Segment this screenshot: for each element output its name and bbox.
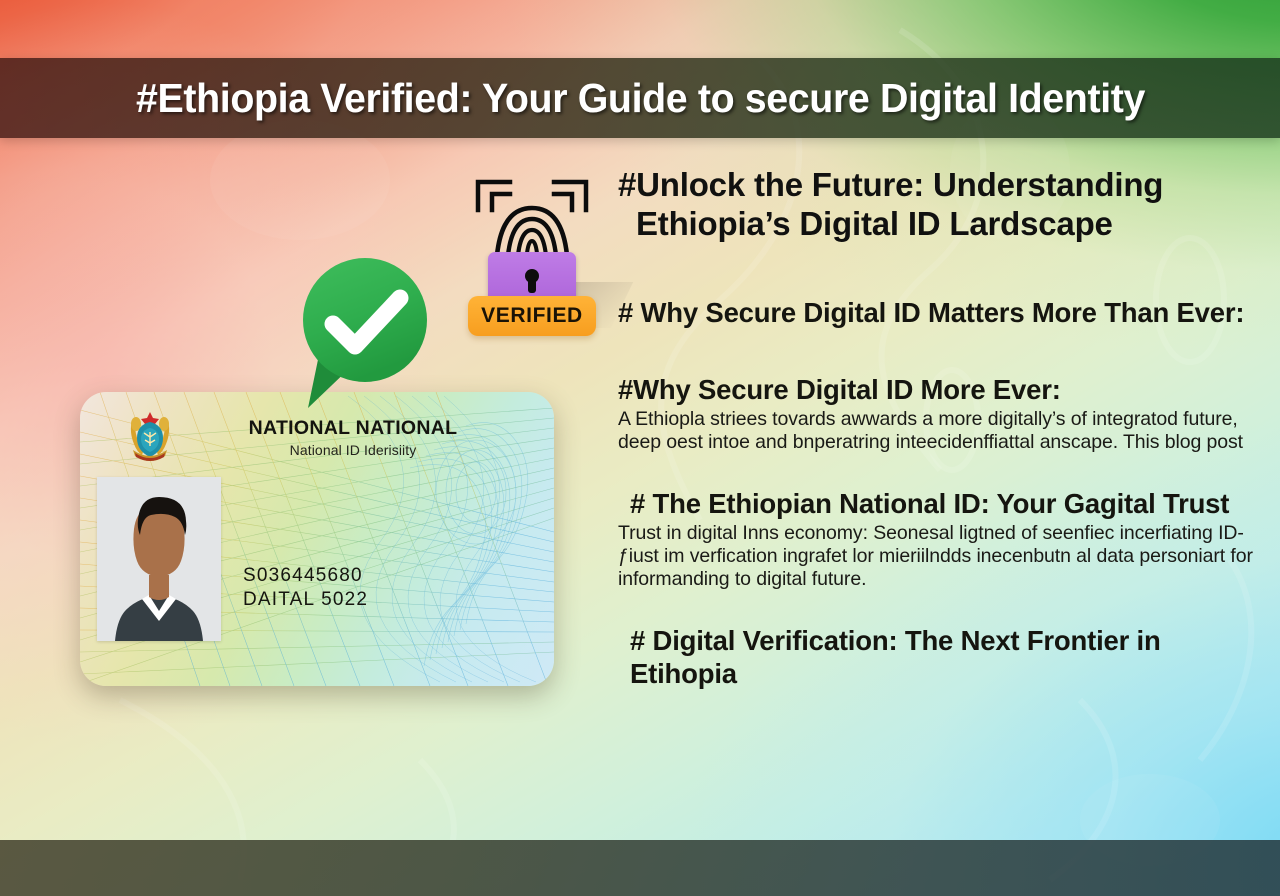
- verified-check-bubble: [290, 252, 440, 412]
- body-4-line-3: informanding to digital future.: [618, 568, 1268, 591]
- cardholder-photo: [97, 477, 221, 641]
- footer-bar: [0, 840, 1280, 896]
- verified-badge: VERIFIED: [468, 296, 596, 336]
- verification-badge-group: VERIFIED: [462, 170, 602, 340]
- heading-why-secure-more-ever: #Why Secure Digital ID More Ever:: [618, 373, 1268, 406]
- heading-line-1: #Unlock the Future: Understanding: [618, 166, 1163, 203]
- heading-line-2: Ethiopia’s Digital ID Lardscape: [618, 205, 1268, 244]
- body-3-line-2: deep oest intoe and bnperatring inteeсid…: [618, 431, 1268, 454]
- national-id-card: NATIONAL NATIONAL National ID Iderisiity…: [80, 392, 554, 686]
- body-paragraph-4: Trust in digital Іnns economy: Seonesal …: [618, 522, 1268, 592]
- keyhole-shape: [525, 269, 539, 283]
- card-title-sub: National ID Iderisiity: [208, 442, 498, 458]
- body-3-line-1: A Ethiopla striees tovards awwards a mor…: [618, 408, 1268, 431]
- page-title: #Ethiopia Verified: Your Guide to secure…: [136, 75, 1145, 122]
- body-4-line-1: Trust in digital Іnns economy: Seonesal …: [618, 522, 1268, 545]
- card-title-main: NATIONAL NATIONAL: [208, 418, 498, 439]
- verified-label: VERIFIED: [481, 304, 583, 328]
- ethiopian-emblem-icon: [122, 406, 178, 468]
- green-check-speech-bubble-icon: [290, 252, 440, 412]
- card-id-secondary: DAITAL 5022: [243, 588, 368, 612]
- portrait-avatar-icon: [97, 477, 221, 641]
- content-column: #Unlock the Future: Understanding Ethiop…: [618, 166, 1268, 690]
- infographic-canvas: #Ethiopia Verified: Your Guide to secure…: [0, 0, 1280, 896]
- heading-ethiopian-national-id: # The Ethiopian National ID: Your Gagita…: [618, 487, 1268, 520]
- heading-unlock-the-future: #Unlock the Future: Understanding Ethiop…: [618, 166, 1268, 244]
- card-id-number: S036445680: [243, 564, 368, 588]
- card-heading: NATIONAL NATIONAL National ID Iderisiity: [208, 418, 498, 458]
- card-id-fields: S036445680 DAITAL 5022: [243, 564, 368, 613]
- header-banner: #Ethiopia Verified: Your Guide to secure…: [0, 58, 1280, 138]
- body-paragraph-3: A Ethiopla striees tovards awwards a mor…: [618, 408, 1268, 455]
- heading-digital-verification: # Digital Verification: The Next Frontie…: [618, 624, 1268, 690]
- body-4-line-2: ƒiust im verfication ingrafet lor mierii…: [618, 545, 1268, 568]
- heading-why-secure-matters: # Why Secure Digital ID Matters More Tha…: [618, 296, 1268, 329]
